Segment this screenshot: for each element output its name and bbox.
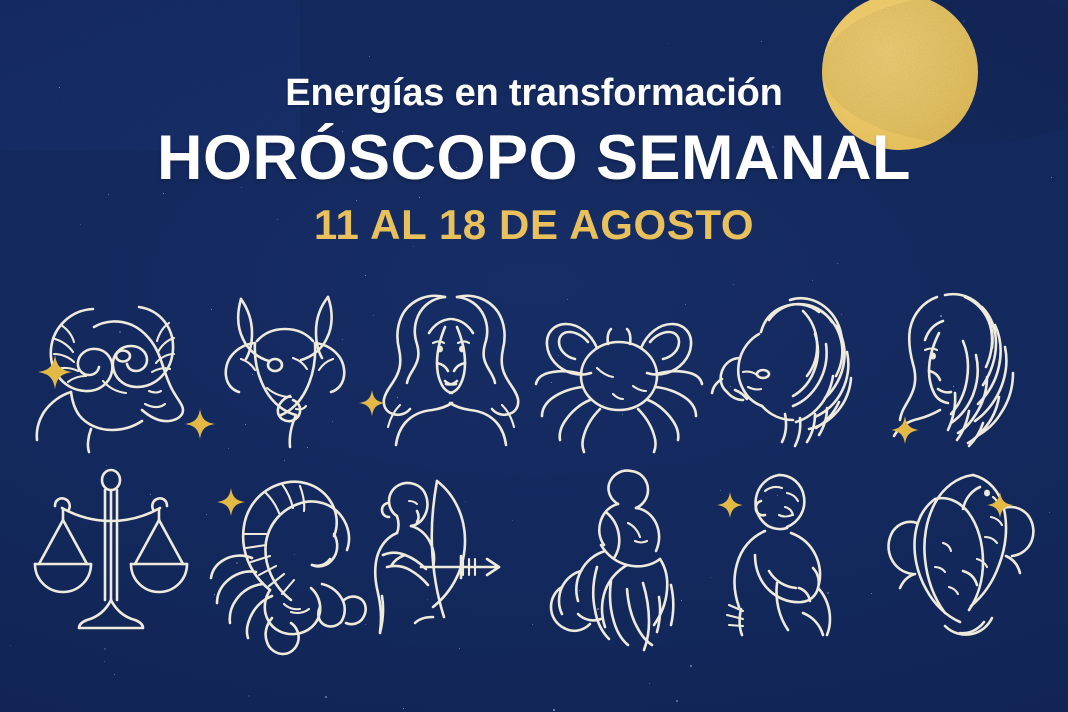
- sparkle-star-icon: [359, 390, 385, 416]
- water-bearer-icon: [535, 463, 703, 635]
- zodiac-cell-leo[interactable]: [703, 285, 872, 453]
- sparkle-star-icon: [185, 409, 215, 439]
- bull-head-icon: [197, 287, 362, 452]
- zodiac-cell-libra[interactable]: [26, 461, 195, 636]
- star-speck: [325, 696, 327, 698]
- star-speck: [837, 263, 838, 264]
- star-speck: [459, 648, 460, 649]
- star-speck: [104, 648, 106, 650]
- star-speck: [104, 661, 105, 662]
- zodiac-cell-piscis[interactable]: [873, 461, 1042, 636]
- zodiac-cell-capricornio[interactable]: [703, 461, 872, 636]
- horoscope-poster: Energías en transformación HORÓSCOPO SEM…: [0, 0, 1068, 712]
- two-fish-icon: [877, 463, 1037, 635]
- zodiac-cell-sagitario[interactable]: [365, 461, 534, 636]
- sparkle-star-icon: [891, 416, 919, 444]
- crab-icon: [535, 290, 703, 448]
- star-speck: [248, 695, 250, 697]
- lion-head-icon: [707, 286, 869, 452]
- star-speck: [690, 665, 692, 667]
- sparkle-star-icon: [987, 492, 1013, 518]
- sparkle-star-icon: [717, 492, 743, 518]
- star-speck: [1049, 512, 1050, 513]
- zodiac-grid: [26, 285, 1042, 636]
- page-title: HORÓSCOPO SEMANAL: [0, 112, 1068, 192]
- archer-icon: [365, 463, 533, 635]
- zodiac-cell-tauro[interactable]: [195, 285, 364, 453]
- zodiac-cell-cancer[interactable]: [534, 285, 703, 453]
- sparkle-star-icon: [38, 355, 72, 389]
- star-speck: [812, 280, 813, 281]
- date-range-text: 11 AL 18 DE AGOSTO: [0, 192, 1068, 246]
- star-speck: [114, 674, 115, 675]
- star-speck: [649, 683, 650, 684]
- headings-block: Energías en transformación HORÓSCOPO SEM…: [0, 0, 1068, 246]
- twin-faces-icon: [367, 285, 532, 453]
- star-speck: [10, 645, 11, 646]
- zodiac-cell-acuario[interactable]: [534, 461, 703, 636]
- star-speck: [553, 709, 555, 711]
- star-speck: [365, 275, 366, 276]
- zodiac-cell-geminis[interactable]: [365, 285, 534, 453]
- sparkle-star-icon: [217, 488, 245, 516]
- star-speck: [676, 700, 678, 702]
- scales-icon: [27, 464, 195, 634]
- star-speck: [403, 708, 404, 709]
- seated-figure-icon: [707, 463, 869, 635]
- eyebrow-text: Energías en transformación: [0, 0, 1068, 112]
